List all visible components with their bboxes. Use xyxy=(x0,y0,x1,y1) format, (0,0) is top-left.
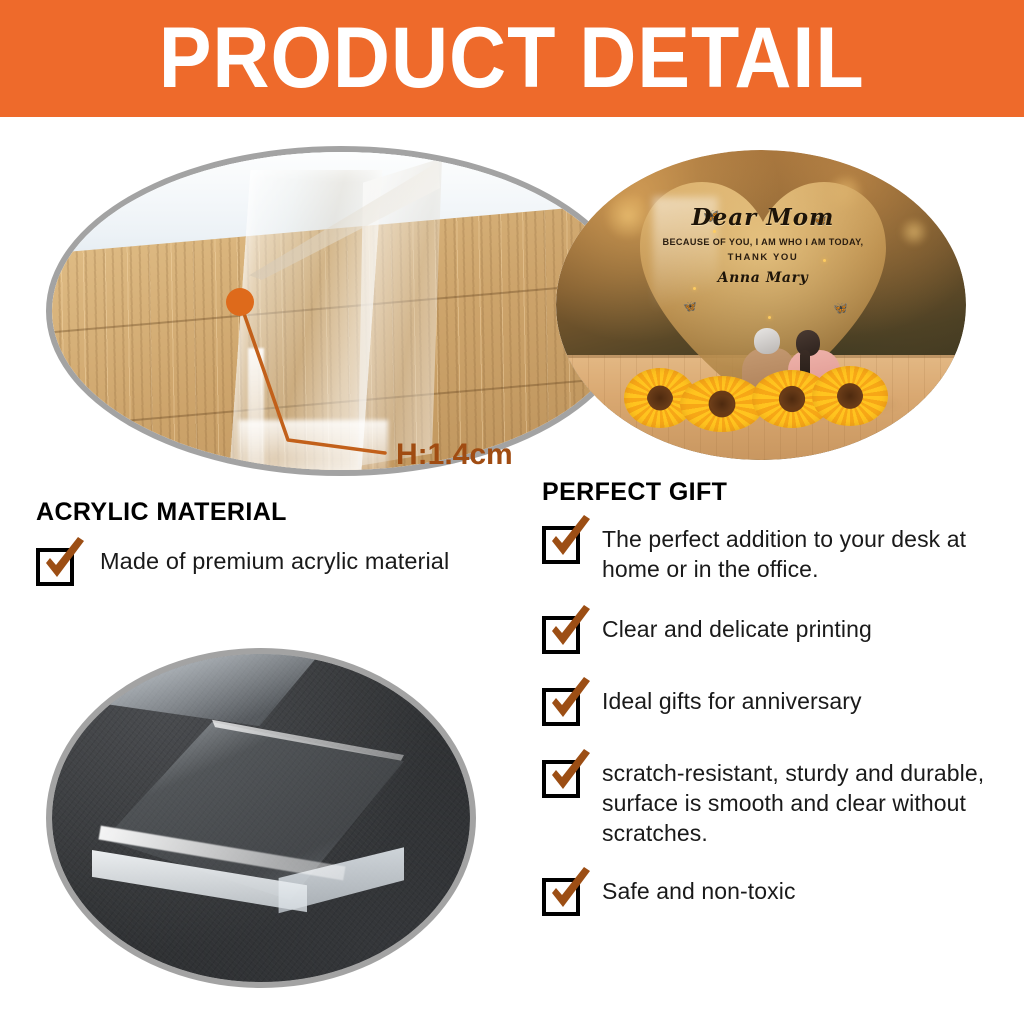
checkbox-checked-icon xyxy=(542,878,580,916)
checkbox-checked-icon xyxy=(542,526,580,564)
acrylic-material-checklist: Made of premium acrylic material xyxy=(36,546,516,608)
list-item: Safe and non-toxic xyxy=(542,876,1012,916)
acrylic-block-scene xyxy=(52,654,470,982)
list-item: Made of premium acrylic material xyxy=(36,546,516,586)
checkbox-checked-icon xyxy=(542,616,580,654)
list-item-label: Made of premium acrylic material xyxy=(100,546,449,576)
checkmark-icon xyxy=(543,514,597,568)
acrylic-block-photo xyxy=(46,648,476,988)
list-item-label: Ideal gifts for anniversary xyxy=(602,686,862,716)
list-item: The perfect addition to your desk at hom… xyxy=(542,524,1012,584)
checkmark-icon xyxy=(543,748,597,802)
list-item: Ideal gifts for anniversary xyxy=(542,686,1012,726)
list-item-label: scratch-resistant, sturdy and durable, s… xyxy=(602,758,1012,848)
checkmark-icon xyxy=(37,536,91,590)
checkbox-checked-icon xyxy=(36,548,74,586)
measurement-leader-line xyxy=(0,0,1024,520)
slate-scene xyxy=(52,654,470,982)
checkbox-checked-icon xyxy=(542,688,580,726)
checkmark-icon xyxy=(543,604,597,658)
measurement-dot-icon xyxy=(226,288,254,316)
checkmark-icon xyxy=(543,676,597,730)
list-item-label: The perfect addition to your desk at hom… xyxy=(602,524,1002,584)
perfect-gift-checklist: The perfect addition to your desk at hom… xyxy=(542,524,1012,916)
list-item-label: Clear and delicate printing xyxy=(602,614,872,644)
checkbox-checked-icon xyxy=(542,760,580,798)
list-item: Clear and delicate printing xyxy=(542,614,1012,654)
list-item-label: Safe and non-toxic xyxy=(602,876,796,906)
list-item: scratch-resistant, sturdy and durable, s… xyxy=(542,758,1012,848)
checkmark-icon xyxy=(543,866,597,920)
